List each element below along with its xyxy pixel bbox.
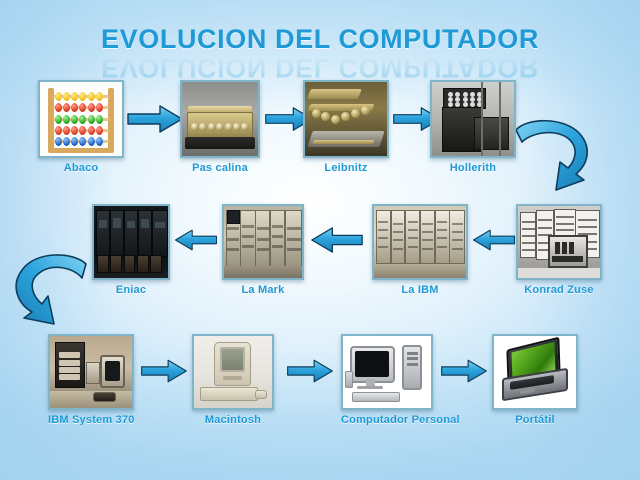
abacus-photo <box>40 82 122 156</box>
image-frame-macintosh <box>192 334 274 410</box>
konrad-zuse-z-machine-photo <box>518 206 600 278</box>
image-frame-la-mark <box>222 204 304 280</box>
image-frame-la-ibm <box>372 204 468 280</box>
leibniz-stepped-reckoner-photo <box>305 82 387 156</box>
node-label-eniac: Eniac <box>92 284 170 296</box>
node-la-mark[interactable]: La Mark <box>222 204 304 296</box>
page-title-reflection: EVOLUCION DEL COMPUTADOR <box>0 54 640 81</box>
node-label-la-mark: La Mark <box>222 284 304 296</box>
laptop-photo <box>494 336 576 408</box>
slide-canvas: EVOLUCION DEL COMPUTADOR EVOLUCION DEL C… <box>0 0 640 480</box>
node-konrad-zuse[interactable]: Konrad Zuse <box>516 204 602 296</box>
node-ibm-system-370[interactable]: IBM System 370 <box>48 334 134 426</box>
image-frame-ibm-system-370 <box>48 334 134 410</box>
node-label-macintosh: Macintosh <box>192 414 274 426</box>
arrow-computadorpersonal-to-portatil <box>440 356 488 386</box>
image-frame-computador-personal <box>341 334 433 410</box>
arrow-ibmsystem370-to-macintosh <box>140 356 188 386</box>
arrow-abaco-to-pascalina <box>126 104 184 134</box>
node-label-la-ibm: La IBM <box>372 284 468 296</box>
node-label-abaco: Abaco <box>38 162 124 174</box>
pascaline-calculator-photo <box>182 82 258 156</box>
arrow-laibm-to-lamark <box>310 225 364 255</box>
arrow-konradzuse-to-laibm <box>472 225 516 255</box>
node-pas-calina[interactable]: Pas calina <box>180 80 260 174</box>
arrow-lamark-to-eniac <box>174 225 218 255</box>
node-computador-personal[interactable]: Computador Personal <box>341 334 433 426</box>
node-hollerith[interactable]: Hollerith <box>430 80 516 174</box>
node-label-ibm-system-370: IBM System 370 <box>48 414 134 426</box>
node-macintosh[interactable]: Macintosh <box>192 334 274 426</box>
page-title: EVOLUCION DEL COMPUTADOR <box>0 26 640 53</box>
image-frame-eniac <box>92 204 170 280</box>
node-eniac[interactable]: Eniac <box>92 204 170 296</box>
image-frame-hollerith <box>430 80 516 158</box>
node-label-pas-calina: Pas calina <box>180 162 260 174</box>
ibm-mainframe-photo <box>374 206 466 278</box>
desktop-pc-photo <box>343 336 431 408</box>
arrow-macintosh-to-computadorpersonal <box>286 356 334 386</box>
node-label-konrad-zuse: Konrad Zuse <box>516 284 602 296</box>
eniac-photo <box>94 206 168 278</box>
image-frame-abaco <box>38 80 124 158</box>
harvard-mark-photo <box>224 206 302 278</box>
node-portatil[interactable]: Portátil <box>492 334 578 426</box>
node-label-portatil: Portátil <box>492 414 578 426</box>
arrow-eniac-to-ibmsystem370 <box>8 248 96 330</box>
slide-title-block: EVOLUCION DEL COMPUTADOR EVOLUCION DEL C… <box>0 26 640 81</box>
image-frame-leibnitz <box>303 80 389 158</box>
apple-macintosh-photo <box>194 336 272 408</box>
node-label-leibnitz: Leibnitz <box>303 162 389 174</box>
image-frame-pas-calina <box>180 80 260 158</box>
ibm-system-370-photo <box>50 336 132 408</box>
node-la-ibm[interactable]: La IBM <box>372 204 468 296</box>
image-frame-konrad-zuse <box>516 204 602 280</box>
node-label-computador-personal: Computador Personal <box>341 414 433 426</box>
hollerith-tabulating-machine-photo <box>432 82 514 156</box>
node-abaco[interactable]: Abaco <box>38 80 124 174</box>
image-frame-portatil <box>492 334 578 410</box>
node-leibnitz[interactable]: Leibnitz <box>303 80 389 174</box>
arrow-hollerith-to-konradzuse <box>508 116 598 202</box>
node-label-hollerith: Hollerith <box>430 162 516 174</box>
